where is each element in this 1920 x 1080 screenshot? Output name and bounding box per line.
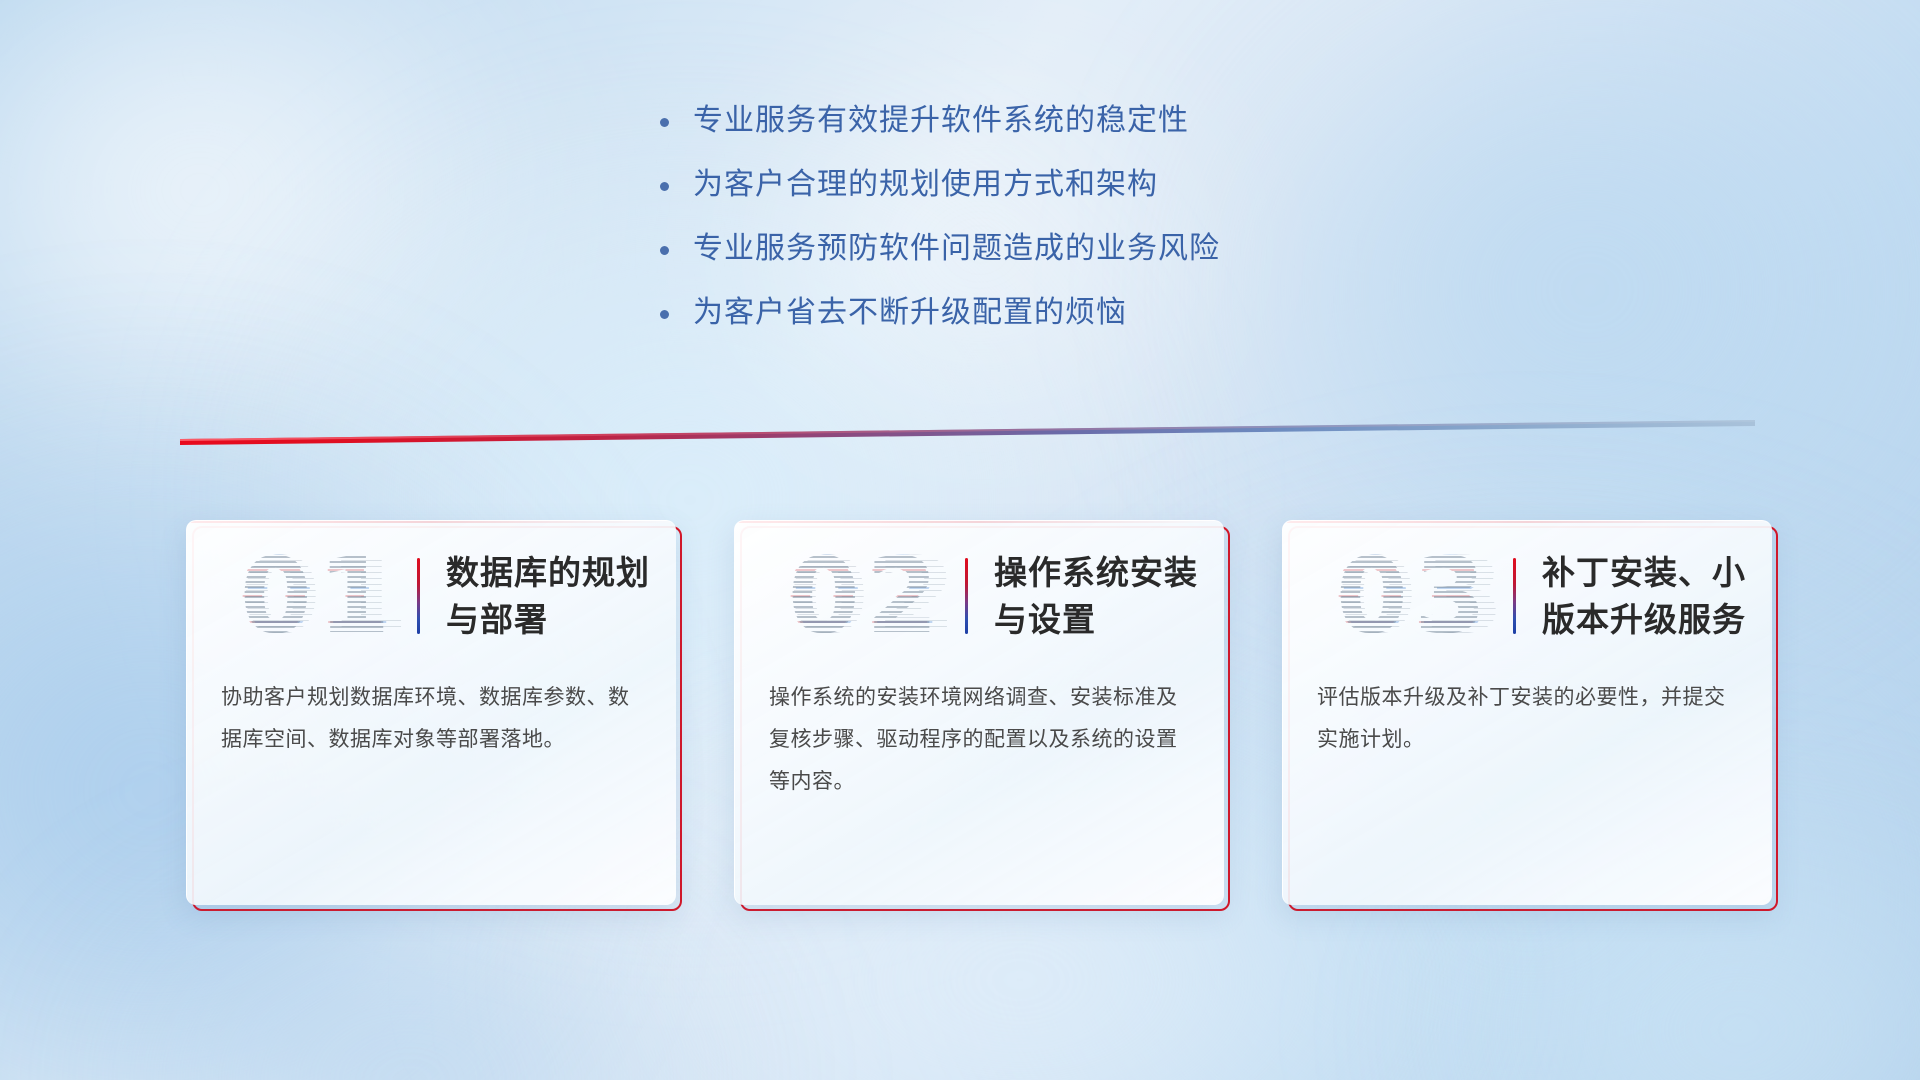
benefit-bullet-list: 专业服务有效提升软件系统的稳定性 为客户合理的规划使用方式和架构 专业服务预防软… xyxy=(660,100,1520,356)
service-card-list: 01 01 01 01 数据库的规划与部署 协助客户规划数据库环境、数据库参数、… xyxy=(186,520,1772,905)
bullet-dot-icon xyxy=(660,182,669,191)
divider-shape-icon xyxy=(180,418,1755,454)
card-number-watermark: 03 03 03 03 xyxy=(1319,536,1509,656)
bullet-text: 为客户省去不断升级配置的烦恼 xyxy=(693,292,1127,334)
card-title: 数据库的规划与部署 xyxy=(446,549,676,643)
card-body-text: 操作系统的安装环境网络调查、安装标准及复核步骤、驱动程序的配置以及系统的设置等内… xyxy=(735,671,1224,803)
card-number-main: 01 xyxy=(223,536,413,656)
card-body-text: 协助客户规划数据库环境、数据库参数、数据库空间、数据库对象等部署落地。 xyxy=(187,671,676,761)
bullet-dot-icon xyxy=(660,118,669,127)
card-header: 01 01 01 01 数据库的规划与部署 xyxy=(187,521,676,671)
bullet-dot-icon xyxy=(660,310,669,319)
list-item: 专业服务预防软件问题造成的业务风险 xyxy=(660,228,1520,270)
service-card[interactable]: 03 03 03 03 补丁安装、小版本升级服务 评估版本升级及补丁安装的必要性… xyxy=(1282,520,1772,905)
bullet-dot-icon xyxy=(660,246,669,255)
card-surface: 02 02 02 02 操作系统安装与设置 操作系统的安装环境网络调查、安装标准… xyxy=(734,520,1224,905)
card-title: 操作系统安装与设置 xyxy=(994,549,1224,643)
list-item: 专业服务有效提升软件系统的稳定性 xyxy=(660,100,1520,142)
card-title: 补丁安装、小版本升级服务 xyxy=(1542,549,1772,643)
service-card[interactable]: 01 01 01 01 数据库的规划与部署 协助客户规划数据库环境、数据库参数、… xyxy=(186,520,676,905)
bullet-text: 为客户合理的规划使用方式和架构 xyxy=(693,164,1158,206)
bullet-text: 专业服务预防软件问题造成的业务风险 xyxy=(693,228,1220,270)
card-number-watermark: 01 01 01 01 xyxy=(223,536,413,656)
card-surface: 03 03 03 03 补丁安装、小版本升级服务 评估版本升级及补丁安装的必要性… xyxy=(1282,520,1772,905)
card-surface: 01 01 01 01 数据库的规划与部署 协助客户规划数据库环境、数据库参数、… xyxy=(186,520,676,905)
card-number-watermark: 02 02 02 02 xyxy=(771,536,961,656)
list-item: 为客户合理的规划使用方式和架构 xyxy=(660,164,1520,206)
service-card[interactable]: 02 02 02 02 操作系统安装与设置 操作系统的安装环境网络调查、安装标准… xyxy=(734,520,1224,905)
bullet-text: 专业服务有效提升软件系统的稳定性 xyxy=(693,100,1189,142)
card-header: 02 02 02 02 操作系统安装与设置 xyxy=(735,521,1224,671)
card-body-text: 评估版本升级及补丁安装的必要性，并提交实施计划。 xyxy=(1283,671,1772,761)
card-header: 03 03 03 03 补丁安装、小版本升级服务 xyxy=(1283,521,1772,671)
list-item: 为客户省去不断升级配置的烦恼 xyxy=(660,292,1520,334)
gradient-wedge-divider xyxy=(180,418,1755,454)
card-number-main: 02 xyxy=(771,536,961,656)
card-number-main: 03 xyxy=(1319,536,1509,656)
